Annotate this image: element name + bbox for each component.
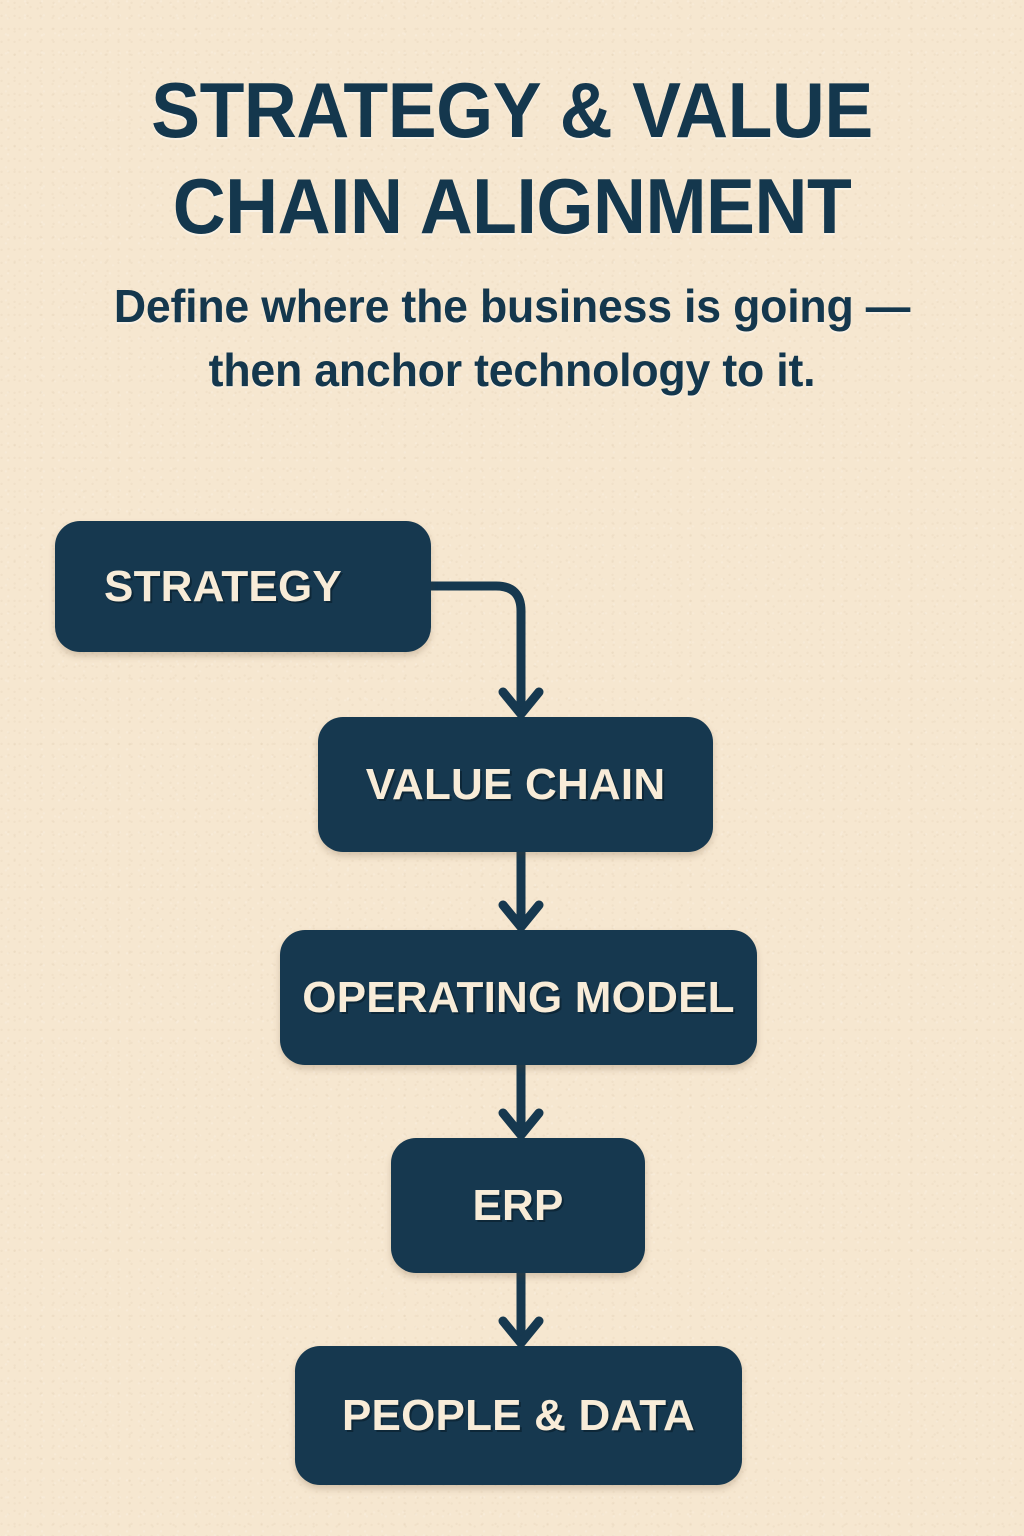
flow-node-label: PEOPLE & DATA (342, 1394, 695, 1438)
flow-node-label: VALUE CHAIN (366, 763, 666, 807)
arrowhead-down-icon (503, 905, 539, 927)
arrowhead-down-icon (503, 1113, 539, 1135)
arrowhead-down-icon (503, 692, 539, 714)
flow-node-label: ERP (472, 1184, 563, 1228)
flow-node-value-chain[interactable]: VALUE CHAIN (318, 717, 713, 852)
connector-value-chain-to-operating-model (503, 852, 539, 927)
flow-node-operating-model[interactable]: OPERATING MODEL (280, 930, 757, 1065)
connector-erp-to-people-data (503, 1273, 539, 1343)
connector-operating-model-to-erp (503, 1065, 539, 1135)
flow-node-label: STRATEGY (104, 565, 342, 609)
flow-node-erp[interactable]: ERP (391, 1138, 645, 1273)
flow-node-label: OPERATING MODEL (302, 976, 734, 1020)
arrowhead-down-icon (503, 1321, 539, 1343)
poster-canvas: STRATEGY & VALUE CHAIN ALIGNMENT Define … (0, 0, 1024, 1536)
connector-strategy-to-value-chain (431, 586, 539, 714)
flow-node-strategy[interactable]: STRATEGY (55, 521, 431, 652)
flow-diagram: STRATEGY VALUE CHAIN OPERATING MODEL ERP… (0, 0, 1024, 1536)
flow-node-people-data[interactable]: PEOPLE & DATA (295, 1346, 742, 1485)
